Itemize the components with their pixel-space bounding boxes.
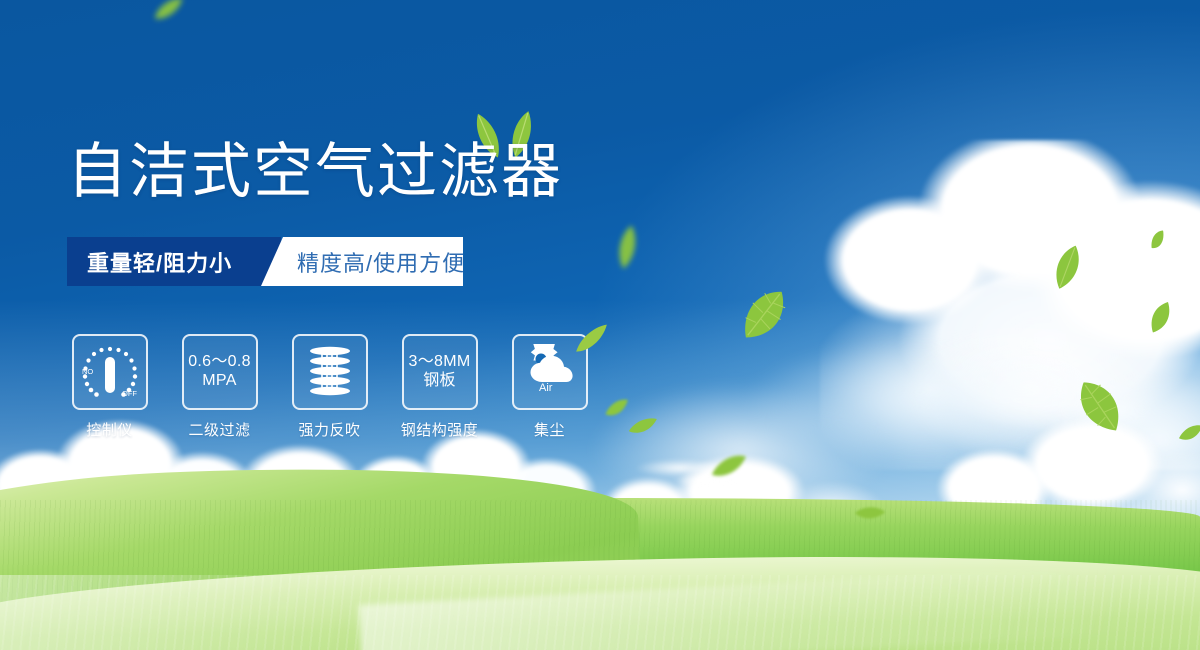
gauge-no-label: NO (82, 367, 93, 376)
filter-coil-icon (304, 344, 356, 400)
feature-icon-box: 0.6～0.8 MPA (182, 334, 258, 410)
feature-item-blowback[interactable]: 强力反吹 (287, 334, 372, 440)
feature-item-controller[interactable]: NO OFF 控制仪 (67, 334, 152, 440)
feature-icon-box: 3～8MM 钢板 (402, 334, 478, 410)
feature-list: NO OFF 控制仪 0.6～0.8 MPA 二级过滤 (67, 334, 617, 440)
feature-label: 控制仪 (86, 419, 133, 440)
steel-plate-text-icon: 3～8MM 钢板 (409, 353, 471, 391)
steel-thickness-line: 3～8MM (409, 353, 471, 370)
pressure-unit-line: MPA (188, 372, 251, 391)
feature-icon-box: NO OFF (72, 334, 148, 410)
feature-label: 二级过滤 (188, 419, 250, 440)
steel-material-line: 钢板 (409, 372, 471, 391)
page-title: 自洁式空气过滤器 (67, 142, 563, 202)
pressure-text-icon: 0.6～0.8 MPA (188, 353, 251, 391)
subtitle-right-text: 精度高/使用方便 (261, 246, 465, 278)
product-banner: 自洁式空气过滤器 重量轻/阻力小 精度高/使用方便 (0, 0, 1200, 650)
feature-label: 钢结构强度 (401, 419, 479, 440)
gauge-icon: NO OFF (79, 344, 141, 400)
subtitle-right-block: 精度高/使用方便 (261, 237, 463, 286)
feature-label: 集尘 (534, 419, 565, 440)
feature-icon-box (292, 334, 368, 410)
air-caption: Air (539, 382, 553, 392)
gauge-off-label: OFF (122, 389, 137, 398)
cloud-air-icon: Air (519, 344, 581, 392)
feature-label: 强力反吹 (298, 419, 360, 440)
pressure-range-line: 0.6～0.8 (188, 353, 251, 370)
feature-item-steel[interactable]: 3～8MM 钢板 钢结构强度 (397, 334, 482, 440)
subtitle-left-block: 重量轻/阻力小 (67, 237, 281, 286)
subtitle-left-text: 重量轻/阻力小 (67, 246, 232, 278)
feature-item-pressure[interactable]: 0.6～0.8 MPA 二级过滤 (177, 334, 262, 440)
subtitle-bar: 重量轻/阻力小 精度高/使用方便 (67, 237, 463, 286)
